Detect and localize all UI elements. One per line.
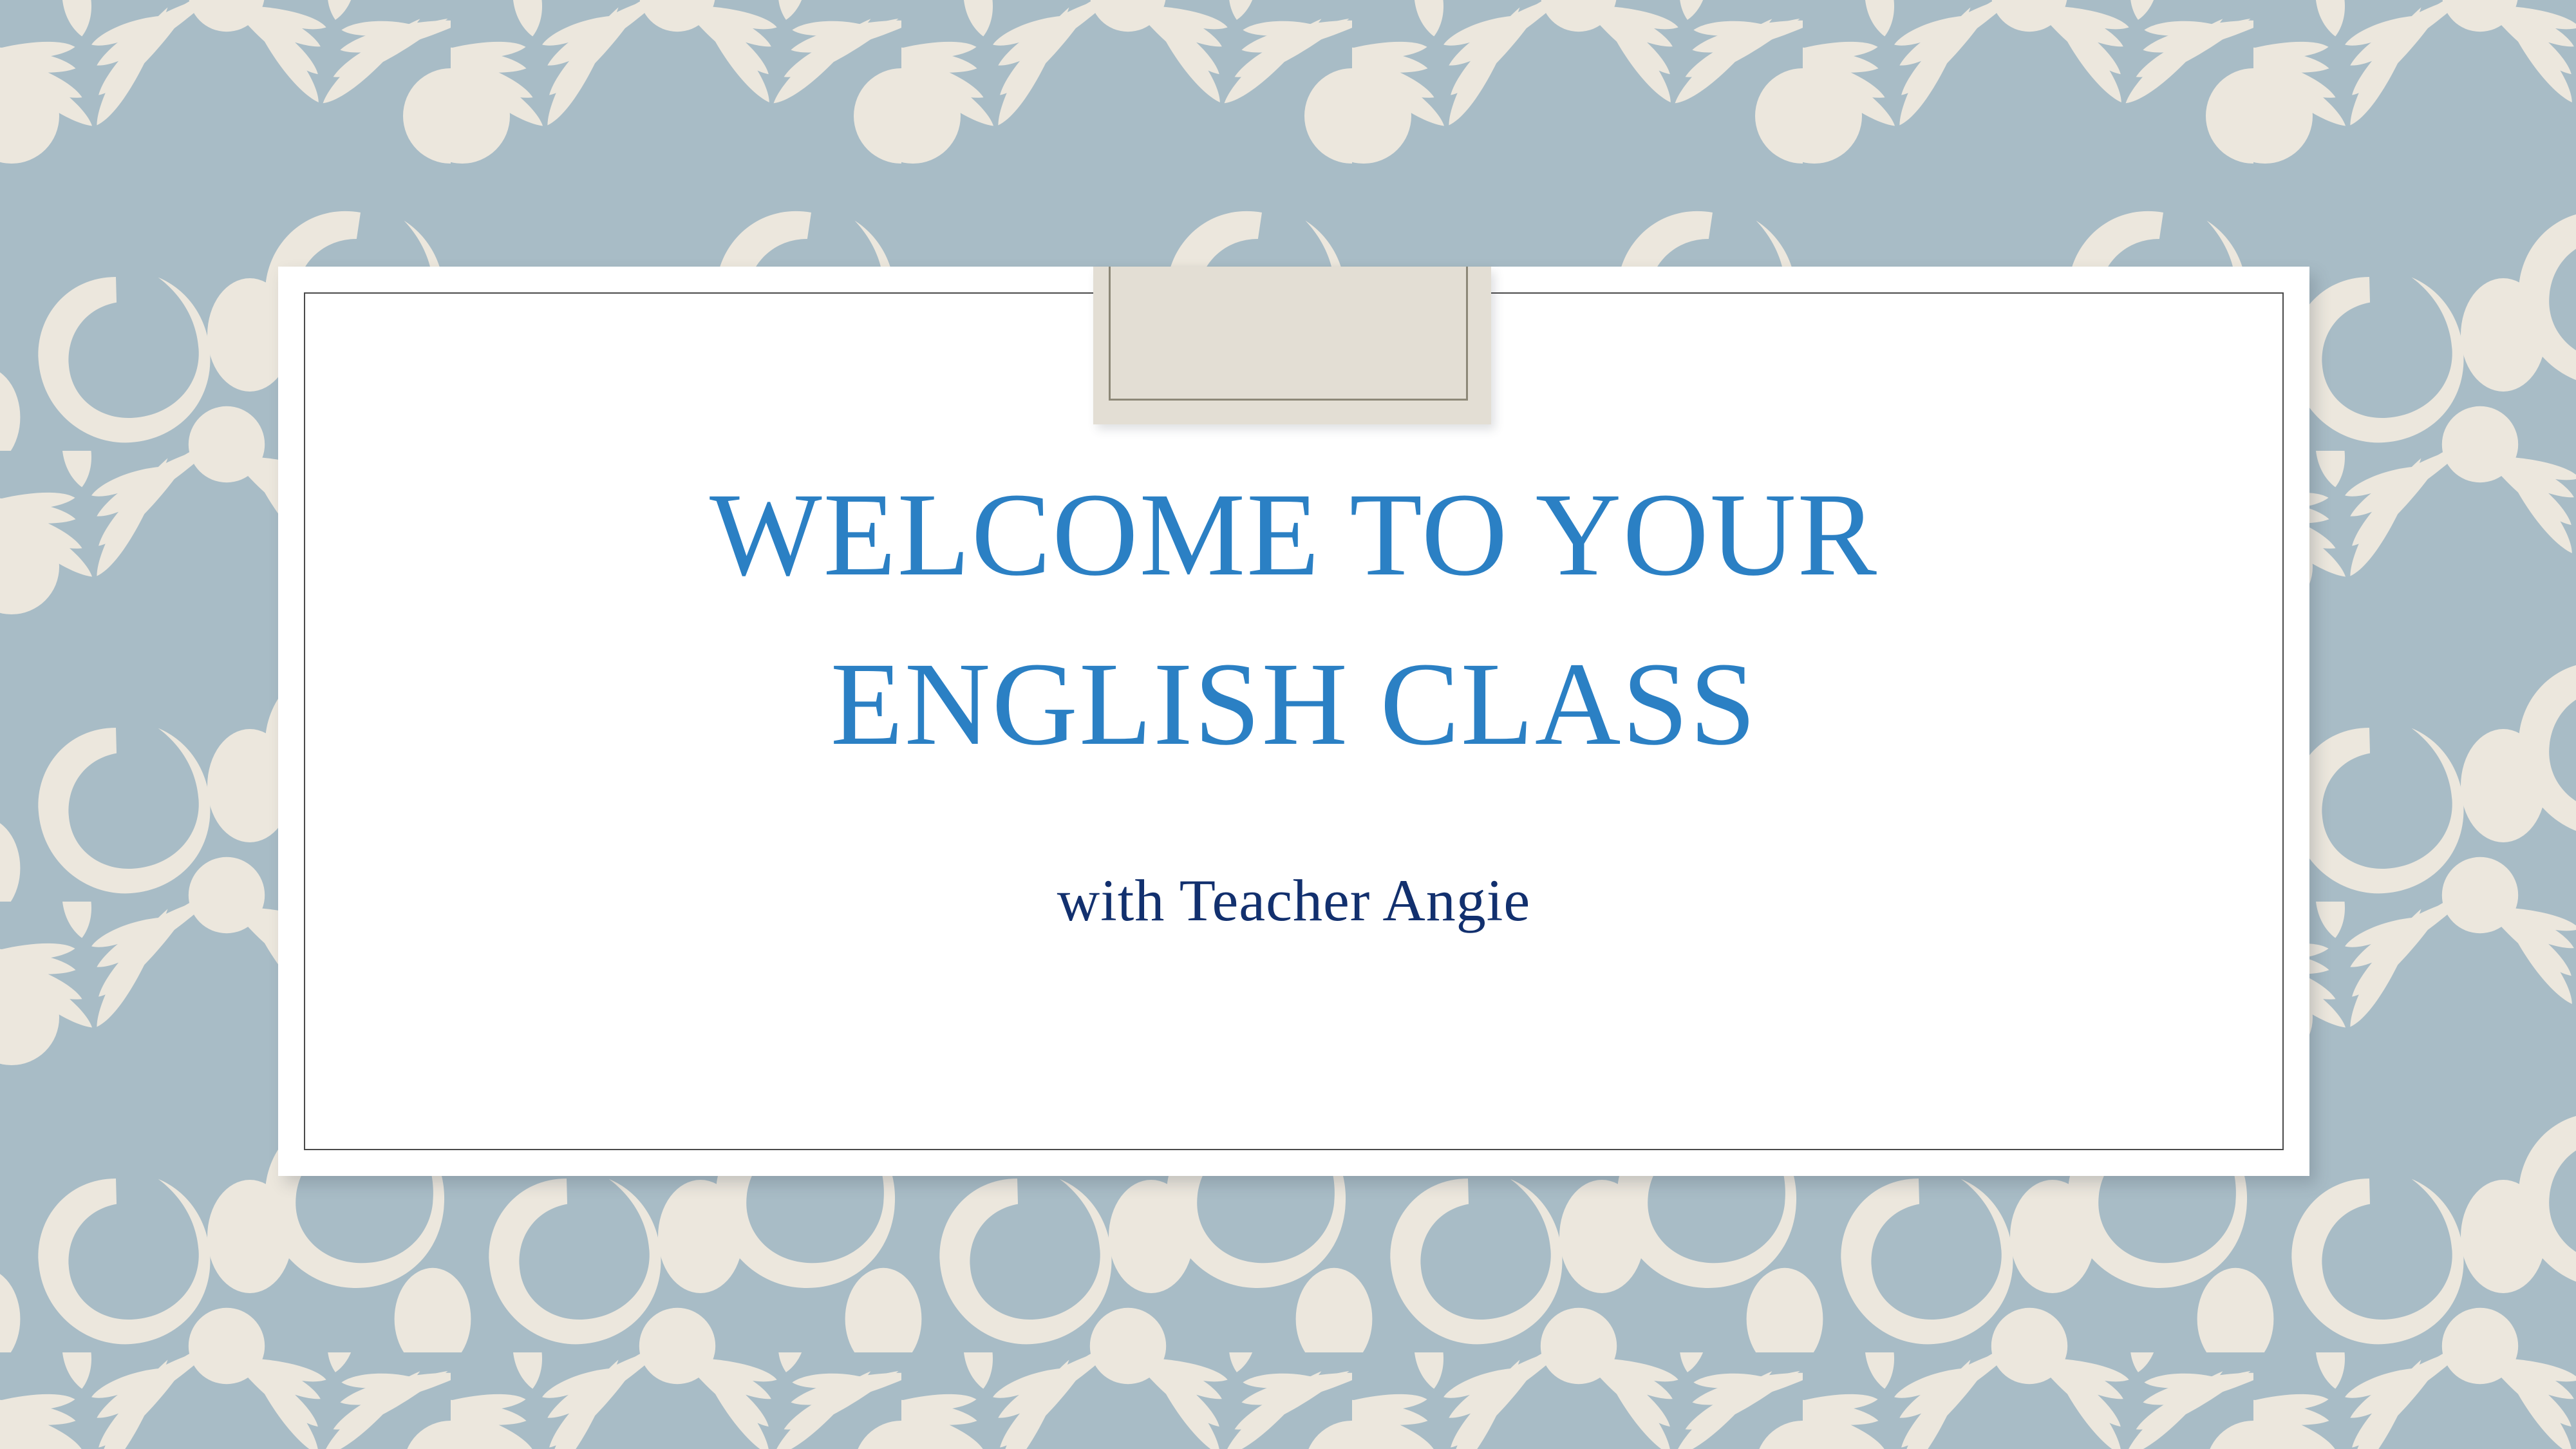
slide-subtitle: with Teacher Angie (294, 789, 2294, 936)
title-tab-decoration (1093, 267, 1491, 424)
title-text-block: Welcome to your English class with Teach… (294, 451, 2294, 936)
presentation-slide: Welcome to your English class with Teach… (0, 0, 2576, 1449)
title-tab-inner-border (1109, 267, 1468, 401)
page-title: Welcome to your English class (294, 451, 2294, 789)
